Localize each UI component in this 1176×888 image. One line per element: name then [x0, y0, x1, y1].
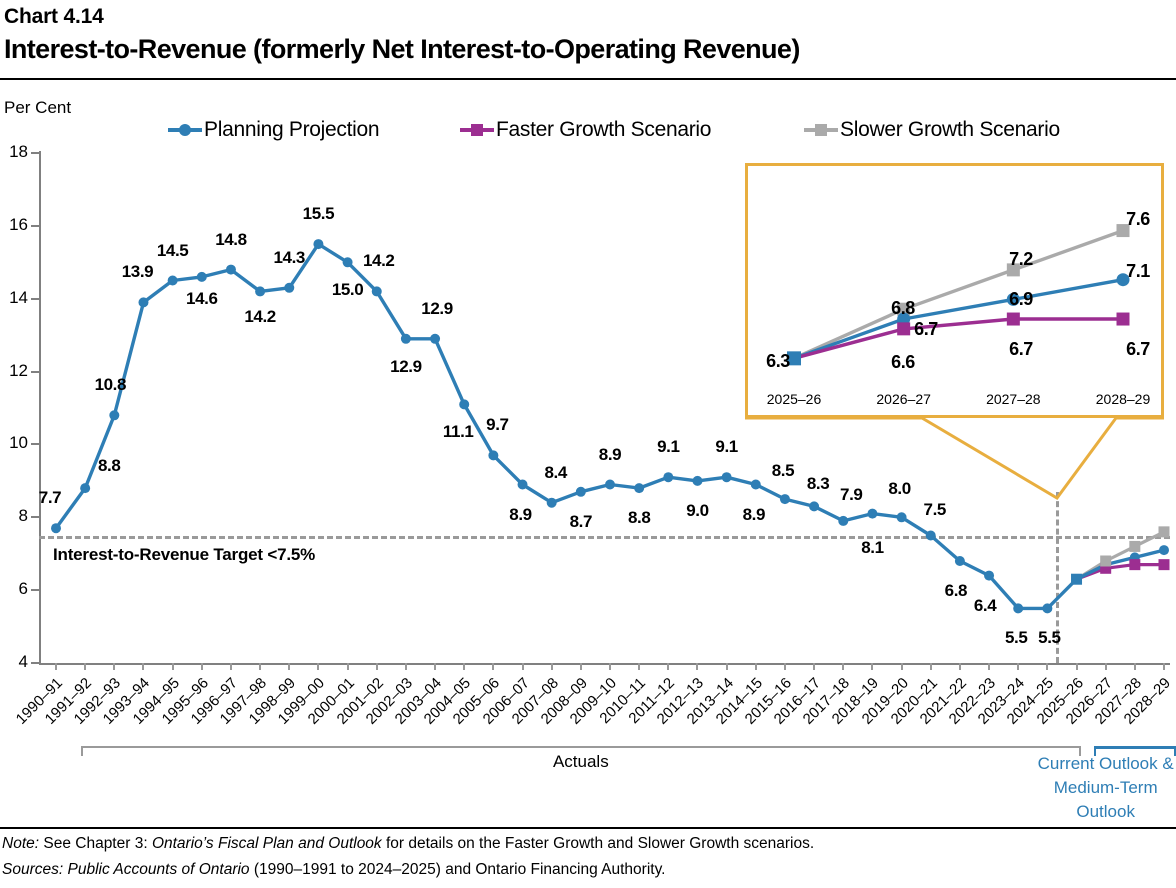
inset-data-point-label: 6.6: [891, 352, 915, 373]
data-point-label: 14.5: [157, 241, 189, 261]
data-point-marker: [138, 297, 148, 307]
data-point-label: 8.8: [98, 456, 120, 476]
data-point-marker: [255, 286, 265, 296]
inset-data-point-label: 6.7: [1009, 339, 1033, 360]
data-point-label: 15.5: [303, 204, 335, 224]
data-point-label: 6.8: [945, 581, 967, 601]
inset-series-line: [794, 319, 1123, 358]
x-axis-tick-mark: [259, 663, 261, 670]
series-line: [1077, 565, 1165, 580]
x-axis-tick-mark: [755, 663, 757, 670]
data-point-marker: [867, 509, 877, 519]
x-axis-tick-mark: [667, 663, 669, 670]
data-point-label: 11.1: [443, 422, 474, 442]
inset-data-point-label: 7.6: [1126, 209, 1150, 230]
chart-number: Chart 4.14: [4, 5, 104, 29]
x-axis-tick-mark: [959, 663, 961, 670]
inset-x-axis-label: 2027–28: [986, 391, 1041, 407]
data-point-label: 5.5: [1005, 628, 1027, 648]
y-axis: [39, 151, 41, 665]
y-axis-tick-mark: [31, 298, 40, 300]
x-axis-tick-mark: [376, 663, 378, 670]
data-point-label: 8.7: [570, 512, 592, 532]
x-axis-tick-mark: [842, 663, 844, 670]
data-point-label: 8.9: [509, 505, 531, 525]
bracket-label-outlook: Current Outlook &Medium-TermOutlook: [996, 752, 1176, 824]
x-axis-tick-mark: [1134, 663, 1136, 670]
y-axis-tick-label: 10: [0, 433, 28, 453]
legend-marker-square-icon: [804, 120, 838, 140]
x-axis-tick-mark: [492, 663, 494, 670]
data-point-marker: [897, 512, 907, 522]
x-axis: [39, 663, 1170, 665]
data-point-label: 8.9: [599, 445, 621, 465]
data-point-marker: [109, 410, 119, 420]
x-axis-tick-mark: [901, 663, 903, 670]
x-axis-tick-mark: [113, 663, 115, 670]
data-point-marker: [984, 571, 994, 581]
data-point-label: 10.8: [95, 375, 127, 395]
x-axis-tick-mark: [55, 663, 57, 670]
data-point-label: 6.4: [974, 596, 996, 616]
data-point-label: 12.9: [421, 299, 453, 319]
chart-container: Chart 4.14 Interest-to-Revenue (formerly…: [0, 0, 1176, 888]
x-axis-tick-mark: [317, 663, 319, 670]
inset-data-point-label: 6.8: [891, 298, 915, 319]
inset-data-point-label: 7.1: [1126, 261, 1150, 282]
data-point-marker: [1042, 603, 1052, 613]
y-axis-tick-mark: [31, 589, 40, 591]
page-title: Interest-to-Revenue (formerly Net Intere…: [4, 34, 800, 65]
data-point-marker: [547, 498, 557, 508]
y-axis-tick-mark: [31, 225, 40, 227]
legend-item-faster-growth-scenario[interactable]: Faster Growth Scenario: [460, 116, 711, 144]
x-axis-tick-mark: [930, 663, 932, 670]
y-axis-tick-label: 16: [0, 215, 28, 235]
data-point-marker: [722, 472, 732, 482]
x-axis-tick-mark: [172, 663, 174, 670]
x-axis-tick-mark: [871, 663, 873, 670]
y-axis-tick-label: 14: [0, 288, 28, 308]
data-point-marker: [80, 483, 90, 493]
data-point-label: 13.9: [122, 262, 154, 282]
inset-data-point-label: 6.7: [914, 319, 938, 340]
inset-x-axis-label: 2028–29: [1096, 391, 1151, 407]
data-point-marker: [518, 480, 528, 490]
data-point-marker: [1159, 559, 1170, 570]
data-point-label: 8.8: [628, 508, 650, 528]
bracket-label-line: Current Outlook &: [996, 752, 1176, 776]
data-point-marker: [955, 556, 965, 566]
x-axis-tick-mark: [1017, 663, 1019, 670]
legend-label: Planning Projection: [204, 118, 379, 142]
data-point-marker: [1100, 563, 1111, 574]
legend-marker-square-icon: [460, 120, 494, 140]
inset-data-point-marker: [897, 322, 910, 335]
data-point-marker: [838, 516, 848, 526]
x-axis-tick-mark: [347, 663, 349, 670]
inset-data-point-label: 6.9: [1009, 289, 1033, 310]
x-axis-tick-mark: [434, 663, 436, 670]
data-point-marker: [313, 239, 323, 249]
inset-data-point-label: 6.7: [1126, 339, 1150, 360]
data-point-label: 14.2: [244, 307, 276, 327]
footer-divider: [0, 827, 1176, 829]
legend-item-planning-projection[interactable]: Planning Projection: [168, 116, 379, 144]
data-point-marker: [488, 450, 498, 460]
x-axis-tick-mark: [288, 663, 290, 670]
data-point-label: 12.9: [390, 357, 422, 377]
data-point-marker: [634, 483, 644, 493]
x-axis-tick-mark: [784, 663, 786, 670]
data-point-label: 5.5: [1038, 628, 1060, 648]
legend-item-slower-growth-scenario[interactable]: Slower Growth Scenario: [804, 116, 1060, 144]
data-point-marker: [372, 286, 382, 296]
x-axis-tick-mark: [1105, 663, 1107, 670]
inset-data-point-marker: [1117, 313, 1130, 326]
target-threshold-label: Interest-to-Revenue Target <7.5%: [53, 545, 315, 565]
target-threshold-line: [39, 536, 1170, 539]
data-point-label: 9.1: [715, 437, 737, 457]
data-point-label: 8.4: [544, 463, 566, 483]
y-axis-tick-label: 6: [0, 579, 28, 599]
data-point-marker: [663, 472, 673, 482]
data-point-marker: [430, 334, 440, 344]
data-point-marker: [51, 523, 61, 533]
inset-data-point-marker: [1007, 313, 1020, 326]
data-point-marker: [459, 399, 469, 409]
x-axis-tick-mark: [142, 663, 144, 670]
bracket-label-actuals: Actuals: [81, 752, 1080, 772]
data-point-label: 7.7: [39, 488, 61, 508]
bracket-label-line: Medium-Term: [996, 776, 1176, 800]
x-axis-tick-mark: [522, 663, 524, 670]
data-point-label: 14.2: [363, 251, 395, 271]
x-axis-tick-mark: [551, 663, 553, 670]
bracket-label-line: Outlook: [996, 800, 1176, 824]
data-point-marker: [1159, 545, 1169, 555]
data-point-label: 14.6: [186, 289, 218, 309]
data-point-label: 14.8: [215, 230, 247, 250]
x-axis-tick-mark: [813, 663, 815, 670]
data-point-marker: [1129, 541, 1140, 552]
inset-data-point-label: 6.3: [766, 351, 790, 372]
x-axis-tick-mark: [609, 663, 611, 670]
data-point-label: 9.1: [657, 437, 679, 457]
data-point-label: 9.7: [486, 415, 508, 435]
y-axis-tick-label: 4: [0, 652, 28, 672]
x-axis-tick-mark: [1076, 663, 1078, 670]
data-point-label: 8.1: [861, 538, 883, 558]
data-point-marker: [401, 334, 411, 344]
x-axis-tick-mark: [726, 663, 728, 670]
x-axis-tick-mark: [580, 663, 582, 670]
x-axis-tick-mark: [201, 663, 203, 670]
data-point-marker: [605, 480, 615, 490]
data-point-marker: [576, 487, 586, 497]
data-point-marker: [343, 257, 353, 267]
legend-label: Faster Growth Scenario: [496, 118, 711, 142]
y-axis-tick-label: 18: [0, 142, 28, 162]
y-axis-tick-mark: [31, 371, 40, 373]
header-divider: [0, 78, 1176, 80]
x-axis-tick-mark: [638, 663, 640, 670]
x-axis-tick-mark: [988, 663, 990, 670]
legend-marker-circle-icon: [168, 120, 202, 140]
inset-connector: [740, 410, 1176, 510]
data-point-label: 9.0: [686, 501, 708, 521]
legend-label: Slower Growth Scenario: [840, 118, 1060, 142]
data-point-marker: [692, 476, 702, 486]
y-axis-tick-mark: [31, 662, 40, 664]
inset-zoom-panel: 2025–262026–272027–282028–29 6.36.86.76.…: [745, 163, 1164, 418]
y-axis-unit-label: Per Cent: [4, 98, 71, 118]
data-point-marker: [1013, 603, 1023, 613]
y-axis-tick-mark: [31, 516, 40, 518]
data-point-marker: [1071, 574, 1082, 585]
x-axis-tick-mark: [696, 663, 698, 670]
data-point-marker: [168, 276, 178, 286]
inset-x-axis-label: 2025–26: [767, 391, 822, 407]
data-point-marker: [1100, 556, 1111, 567]
data-point-label: 14.3: [274, 248, 306, 268]
data-point-marker: [1129, 559, 1140, 570]
data-point-label: 15.0: [332, 280, 364, 300]
sources-line: Sources: Public Accounts of Ontario (199…: [2, 861, 666, 879]
data-point-marker: [226, 265, 236, 275]
y-axis-tick-mark: [31, 443, 40, 445]
x-axis-tick-mark: [1046, 663, 1048, 670]
inset-series-lines: [748, 166, 1167, 421]
data-point-marker: [284, 283, 294, 293]
x-axis-tick-mark: [84, 663, 86, 670]
data-point-marker: [1130, 552, 1140, 562]
x-axis-tick-mark: [405, 663, 407, 670]
note-line: Note: See Chapter 3: Ontario’s Fiscal Pl…: [2, 835, 814, 853]
y-axis-tick-mark: [31, 152, 40, 154]
x-axis-tick-mark: [1163, 663, 1165, 670]
inset-x-axis-label: 2026–27: [876, 391, 931, 407]
y-axis-tick-label: 12: [0, 361, 28, 381]
data-point-marker: [1101, 560, 1111, 570]
x-axis-tick-mark: [463, 663, 465, 670]
data-point-marker: [197, 272, 207, 282]
y-axis-tick-label: 8: [0, 506, 28, 526]
x-axis-tick-mark: [230, 663, 232, 670]
inset-data-point-label: 7.2: [1009, 249, 1033, 270]
